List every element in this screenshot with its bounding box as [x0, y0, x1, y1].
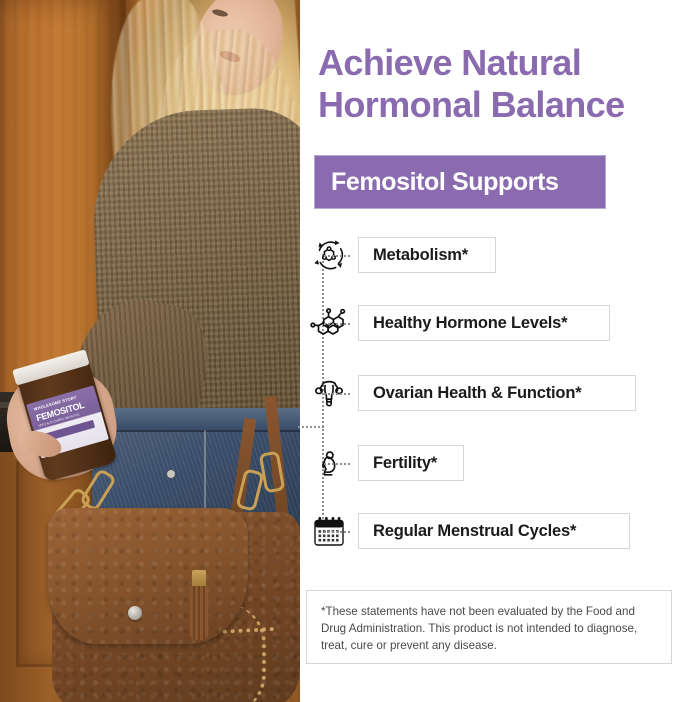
banner-femositol-supports: Femositol Supports [314, 155, 606, 209]
leather-shoulder-bag [52, 512, 300, 702]
benefit-label-box[interactable]: Regular Menstrual Cycles* [358, 513, 630, 549]
benefit-label-box[interactable]: Metabolism* [358, 237, 496, 273]
lifestyle-photo: WHOLESOME STORY FEMOSITOL MYO & D-CHIRO … [0, 0, 300, 702]
dotted-branch [324, 531, 350, 533]
benefit-label: Regular Menstrual Cycles* [373, 522, 576, 541]
dotted-branch [324, 393, 350, 395]
bag-flap [48, 508, 248, 644]
benefit-label-box[interactable]: Healthy Hormone Levels* [358, 305, 610, 341]
bag-snap-stud [128, 606, 142, 620]
disclaimer-text: *These statements have not been evaluate… [321, 603, 657, 654]
content-panel: Achieve NaturalHormonal Balance Femosito… [300, 0, 679, 702]
benefit-label: Fertility* [373, 454, 437, 473]
benefit-label: Metabolism* [373, 246, 468, 265]
dotted-branch [324, 323, 350, 325]
benefit-row[interactable]: Ovarian Health & Function* [300, 366, 636, 420]
benefit-label: Healthy Hormone Levels* [373, 314, 567, 333]
disclaimer-box: *These statements have not been evaluate… [306, 590, 672, 664]
dotted-connector-to-photo [298, 426, 324, 428]
tassel-fringe [190, 586, 208, 640]
dotted-branch [324, 255, 350, 257]
benefit-label-box[interactable]: Ovarian Health & Function* [358, 375, 636, 411]
ad-creative: WHOLESOME STORY FEMOSITOL MYO & D-CHIRO … [0, 0, 679, 702]
dotted-branch [324, 463, 350, 465]
page-title: Achieve NaturalHormonal Balance [318, 42, 679, 126]
benefit-label-box[interactable]: Fertility* [358, 445, 464, 481]
banner-label: Femositol Supports [331, 168, 559, 197]
bag-flap-texture [48, 508, 248, 644]
jeans-button [167, 470, 175, 478]
benefit-label: Ovarian Health & Function* [373, 384, 581, 403]
bag-tassel [190, 570, 208, 640]
